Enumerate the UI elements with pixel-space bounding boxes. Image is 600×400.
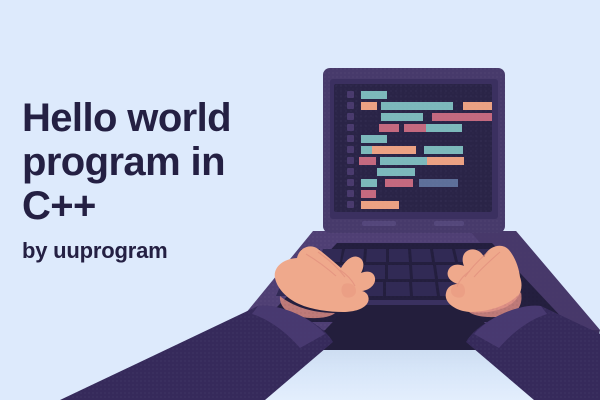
banner-text: Hello world program in C++ by uuprogram bbox=[22, 96, 290, 264]
illustration-canvas: Hello world program in C++ by uuprogram bbox=[0, 0, 600, 400]
byline-author: by uuprogram bbox=[22, 238, 290, 264]
code-editor bbox=[334, 84, 500, 212]
page-title: Hello world program in C++ bbox=[22, 96, 290, 228]
